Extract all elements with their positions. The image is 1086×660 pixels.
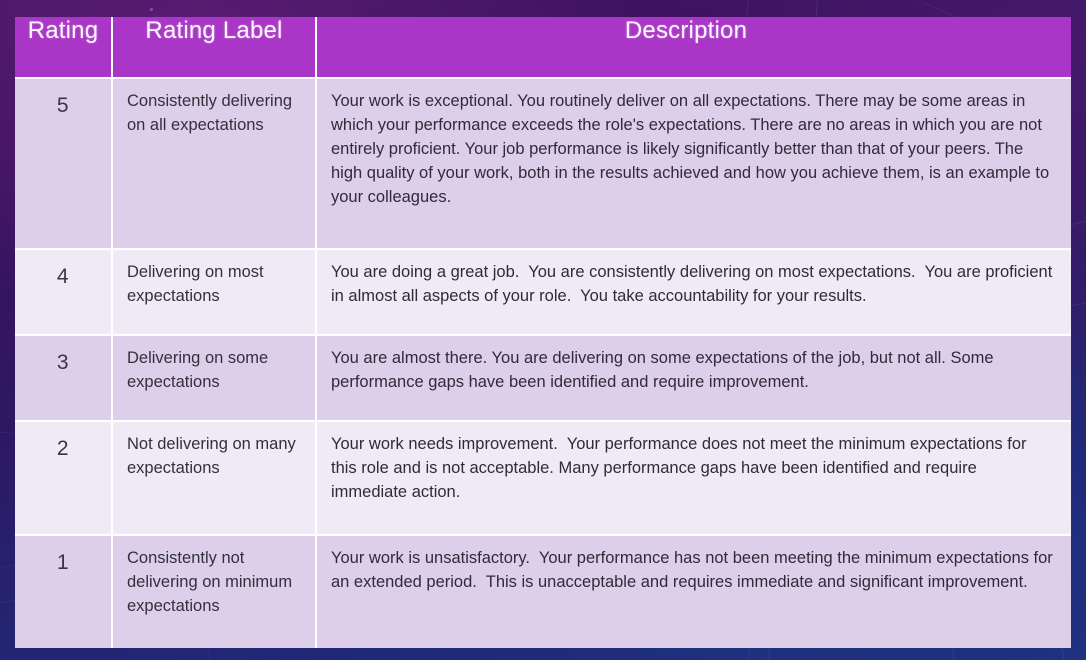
cell-description: You are almost there. You are delivering…: [317, 336, 1071, 422]
cell-rating-label: Delivering on most expectations: [113, 250, 317, 336]
table-row: 4Delivering on most expectationsYou are …: [15, 250, 1071, 336]
cell-rating: 3: [15, 336, 113, 422]
cell-description: Your work is unsatisfactory. Your perfor…: [317, 536, 1071, 648]
cell-rating: 5: [15, 79, 113, 250]
cell-rating-label: Consistently not delivering on minimum e…: [113, 536, 317, 648]
table-header: Rating Rating Label Description: [15, 17, 1071, 79]
table-row: 2Not delivering on many expectationsYour…: [15, 422, 1071, 536]
column-header-description: Description: [317, 17, 1071, 79]
cell-rating-label: Not delivering on many expectations: [113, 422, 317, 536]
column-header-rating: Rating: [15, 17, 113, 79]
cell-rating-label: Consistently delivering on all expectati…: [113, 79, 317, 250]
table-row: 1Consistently not delivering on minimum …: [15, 536, 1071, 648]
cell-description: Your work is exceptional. You routinely …: [317, 79, 1071, 250]
cell-rating-label: Delivering on some expectations: [113, 336, 317, 422]
decorative-dot: [150, 8, 153, 11]
table-row: 5Consistently delivering on all expectat…: [15, 79, 1071, 250]
cell-rating: 1: [15, 536, 113, 648]
slide-canvas: Rating Rating Label Description 5Consist…: [0, 0, 1086, 660]
table-header-row: Rating Rating Label Description: [15, 17, 1071, 79]
cell-rating: 2: [15, 422, 113, 536]
rating-scale-table: Rating Rating Label Description 5Consist…: [15, 17, 1071, 648]
cell-description: You are doing a great job. You are consi…: [317, 250, 1071, 336]
rating-scale-table-container: Rating Rating Label Description 5Consist…: [15, 17, 1071, 648]
table-body: 5Consistently delivering on all expectat…: [15, 79, 1071, 648]
cell-rating: 4: [15, 250, 113, 336]
table-row: 3Delivering on some expectationsYou are …: [15, 336, 1071, 422]
cell-description: Your work needs improvement. Your perfor…: [317, 422, 1071, 536]
column-header-rating-label: Rating Label: [113, 17, 317, 79]
